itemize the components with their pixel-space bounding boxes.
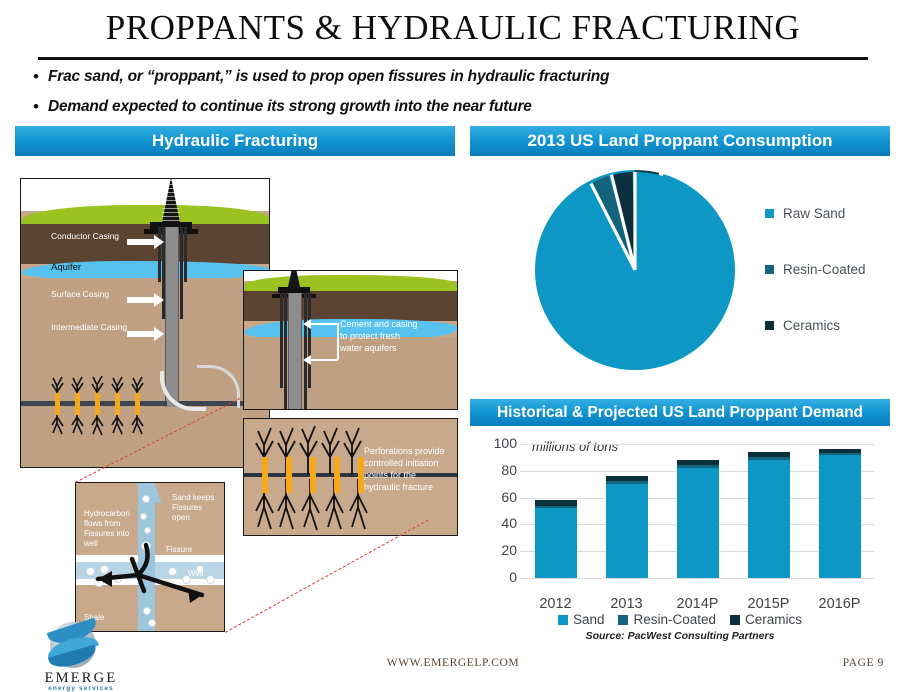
y-axis-tick-label: 40	[477, 515, 517, 531]
bullet-list: • Frac sand, or “proppant,” is used to p…	[24, 64, 894, 124]
legend-label: Ceramics	[783, 318, 840, 333]
fracture-tree-lower-icon	[49, 407, 169, 437]
casing-line	[284, 293, 287, 410]
bullet-marker-icon: •	[24, 94, 48, 120]
legend-item-ceramics: Ceramics	[730, 612, 802, 627]
surface-casing-line	[184, 227, 187, 282]
bar-2016P	[819, 449, 861, 578]
label-conductor-casing: Conductor Casing	[51, 231, 129, 242]
label-fissure: Fissure	[166, 545, 192, 556]
bar-2013	[606, 476, 648, 578]
casing-line	[280, 293, 283, 388]
cement-casing-inset-illustration: Cement and casing to protect fresh water…	[243, 270, 458, 410]
y-axis-tick-label: 60	[477, 489, 517, 505]
label-sand-keeps-fissures-open: Sand keeps Fissures open	[172, 493, 222, 523]
section-header-hydraulic-fracturing: Hydraulic Fracturing	[15, 126, 455, 156]
perforation-marker	[75, 393, 80, 415]
bar-chart-plot: 020406080100201220132014P2015P2016P	[520, 444, 875, 578]
legend-item-sand: Sand	[558, 612, 605, 627]
pie-legend: Raw Sand Resin-Coated Ceramics	[765, 185, 890, 353]
list-item: • Frac sand, or “proppant,” is used to p…	[24, 64, 894, 90]
legend-item-resin-coated: Resin-Coated	[765, 241, 890, 297]
bar-segment-sand	[535, 508, 577, 578]
legend-item-resin-coated: Resin-Coated	[618, 612, 716, 627]
arrowhead	[98, 571, 112, 587]
arrow-stem	[337, 323, 339, 360]
bar-2015P	[748, 452, 790, 578]
bar-chart-section: millions of tons 02040608010020122013201…	[470, 430, 890, 640]
slide: PROPPANTS & HYDRAULIC FRACTURING • Frac …	[0, 0, 906, 689]
y-axis-tick-label: 100	[477, 435, 517, 451]
perforation-marker	[262, 457, 268, 493]
arrow-conductor-casing-icon	[127, 239, 155, 245]
hydraulic-fracturing-diagram: Conductor Casing Aquifer Surface Casing …	[15, 170, 455, 640]
legend-label: Resin-Coated	[633, 612, 716, 627]
page-title: PROPPANTS & HYDRAULIC FRACTURING	[0, 8, 906, 48]
title-divider	[38, 57, 868, 60]
bullet-text: Frac sand, or “proppant,” is used to pro…	[48, 64, 609, 90]
gridline	[520, 578, 875, 579]
perforation-marker	[310, 457, 316, 493]
footer-url: WWW.EMERGELP.COM	[0, 657, 906, 669]
drilling-rig-icon	[149, 178, 193, 229]
label-intermediate-casing: Intermediate Casing	[51, 322, 135, 333]
wellbore-pipe	[288, 293, 302, 410]
list-item: • Demand expected to continue its strong…	[24, 94, 894, 120]
legend-swatch-resin-coated-icon	[765, 265, 774, 274]
gridline	[520, 444, 875, 445]
y-axis-tick-label: 0	[477, 569, 517, 585]
callout-connector-line	[225, 520, 428, 633]
fissure-sand-inset-illustration: Hydrocarbon flows from Fissures into wel…	[75, 482, 225, 632]
legend-swatch-raw-sand-icon	[765, 209, 774, 218]
bar-segment-sand	[677, 468, 719, 578]
legend-item-raw-sand: Raw Sand	[765, 185, 890, 241]
perforation-marker	[55, 393, 60, 415]
legend-swatch-resin-coated-icon	[618, 615, 628, 625]
y-axis-tick-label: 80	[477, 462, 517, 478]
y-axis-tick-label: 20	[477, 542, 517, 558]
legend-label: Raw Sand	[783, 206, 845, 221]
x-axis-tick-label: 2014P	[663, 596, 733, 612]
bar-chart-legend: Sand Resin-Coated Ceramics	[470, 612, 890, 627]
pie-chart	[535, 170, 735, 370]
legend-label: Sand	[573, 612, 605, 627]
legend-swatch-ceramics-icon	[765, 321, 774, 330]
legend-swatch-sand-icon	[558, 615, 568, 625]
footer-page-number: PAGE 9	[843, 657, 884, 669]
arrow-intermediate-casing-icon	[127, 331, 155, 337]
rig-mast	[288, 270, 300, 287]
legend-label: Resin-Coated	[783, 262, 866, 277]
section-header-proppant-demand: Historical & Projected US Land Proppant …	[470, 399, 890, 426]
label-hydrocarbon-flow: Hydrocarbon flows from Fissures into wel…	[84, 509, 140, 549]
section-header-proppant-consumption: 2013 US Land Proppant Consumption	[470, 126, 890, 156]
x-axis-tick-label: 2015P	[734, 596, 804, 612]
legend-label: Ceramics	[745, 612, 802, 627]
bullet-text: Demand expected to continue its strong g…	[48, 94, 532, 120]
bar-2014P	[677, 460, 719, 578]
rig-mast-lattice	[162, 178, 180, 223]
casing-line	[308, 293, 311, 388]
label-well: Well	[188, 569, 203, 580]
conductor-casing-line	[180, 227, 183, 319]
label-surface-casing: Surface Casing	[51, 289, 129, 300]
label-cement-and-casing: Cement and casing to protect fresh water…	[340, 318, 418, 354]
bar-segment-sand	[606, 484, 648, 578]
x-axis-tick-label: 2016P	[805, 596, 875, 612]
rock-layer	[21, 278, 269, 468]
label-perforations: Perforations provide controlled initiati…	[364, 445, 450, 493]
x-axis-tick-label: 2012	[521, 596, 591, 612]
bar-segment-sand	[748, 460, 790, 578]
perforation-marker	[286, 457, 292, 493]
chart-source-note: Source: PacWest Consulting Partners	[470, 630, 890, 642]
perforation-marker	[334, 457, 340, 493]
pie-svg	[535, 170, 735, 370]
pie-chart-section: Raw Sand Resin-Coated Ceramics	[470, 160, 890, 395]
perforation-marker	[95, 393, 100, 415]
bar-2012	[535, 500, 577, 578]
x-axis-tick-label: 2013	[592, 596, 662, 612]
arrow-cement-lower-icon	[310, 359, 338, 361]
wellbore-cutaway-illustration: Conductor Casing Aquifer Surface Casing …	[20, 178, 270, 468]
perforation-marker	[135, 393, 140, 415]
legend-swatch-ceramics-icon	[730, 615, 740, 625]
fracture-tree-upper-icon	[49, 374, 169, 402]
perforation-marker	[115, 393, 120, 415]
label-aquifer: Aquifer	[51, 263, 129, 274]
perforations-inset-illustration: Perforations provide controlled initiati…	[243, 418, 458, 536]
bullet-marker-icon: •	[24, 64, 48, 90]
arrow-surface-casing-icon	[127, 297, 155, 303]
drilling-rig-icon	[277, 270, 311, 293]
emerge-logo: EMERGE energy services	[26, 622, 136, 684]
casing-line	[304, 293, 307, 410]
bar-segment-sand	[819, 455, 861, 578]
arrow-cement-upper-icon	[310, 323, 338, 325]
legend-item-ceramics: Ceramics	[765, 297, 890, 353]
